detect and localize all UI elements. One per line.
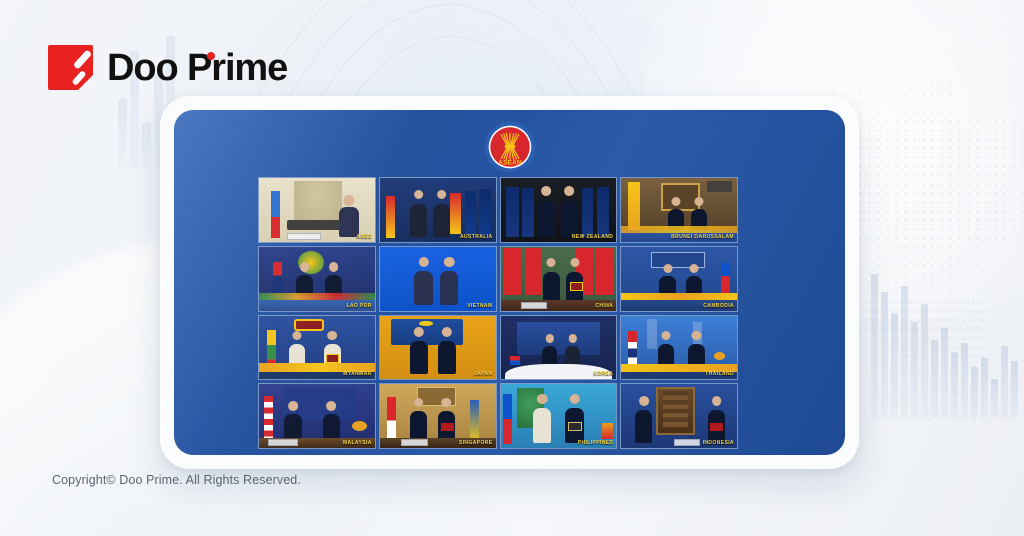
video-tile-label: JAPAN	[474, 371, 493, 377]
video-tile-label: AUSTRALIA	[460, 234, 493, 240]
video-tile[interactable]: MALAYSIA	[258, 383, 376, 449]
video-tile[interactable]: INDONESIA	[620, 383, 738, 449]
video-tile-label: VIETNAM	[467, 303, 492, 309]
video-tile-label: LAO PDR	[346, 303, 371, 309]
video-tile[interactable]: AUSTRALIA	[379, 177, 497, 243]
background-bar-chart-right	[871, 268, 1018, 418]
presentation-card: ASEAN ASEC	[160, 96, 859, 469]
video-tile[interactable]: VIETNAM	[379, 246, 497, 312]
brand-name: Doo Prime	[107, 49, 287, 87]
video-tile[interactable]: PHILIPPINES	[500, 383, 618, 449]
video-tile-label: BRUNEI DARUSSALAM	[671, 234, 734, 240]
video-tile-label: CHINA	[595, 303, 613, 309]
video-tile[interactable]: JAPAN	[379, 315, 497, 381]
asean-emblem-icon: ASEAN	[484, 121, 536, 173]
video-tile[interactable]: CHINA	[500, 246, 618, 312]
video-tile-label: CAMBODIA	[703, 303, 734, 309]
video-tile-label: ASEC	[356, 234, 372, 240]
video-tile-label: THAILAND	[705, 371, 734, 377]
video-tile[interactable]: NEW ZEALAND	[500, 177, 618, 243]
video-tile-label: MYANMAR	[343, 371, 371, 377]
brand-logo: Doo Prime	[48, 45, 287, 90]
video-tile[interactable]: LAO PDR	[258, 246, 376, 312]
video-tile[interactable]: BRUNEI DARUSSALAM	[620, 177, 738, 243]
brand-accent-dot	[207, 52, 215, 60]
video-conference-screen: ASEAN ASEC	[174, 110, 845, 455]
video-tile-label: INDONESIA	[703, 440, 734, 446]
video-tile[interactable]: ASEC	[258, 177, 376, 243]
video-tile-grid: ASEC AUSTRALIA	[258, 177, 738, 449]
video-tile-label: MALAYSIA	[343, 440, 372, 446]
brand-name-text: Doo Prime	[107, 47, 287, 89]
video-tile-label: NEW ZEALAND	[572, 234, 613, 240]
video-tile[interactable]: MYANMAR	[258, 315, 376, 381]
video-tile[interactable]: SINGAPORE	[379, 383, 497, 449]
svg-text:ASEAN: ASEAN	[498, 160, 522, 167]
doo-prime-mark-icon	[48, 45, 93, 90]
video-tile-label: KOREA	[593, 371, 613, 377]
video-tile-label: SINGAPORE	[459, 440, 493, 446]
video-tile[interactable]: THAILAND	[620, 315, 738, 381]
video-tile-label: PHILIPPINES	[578, 440, 614, 446]
video-tile[interactable]: CAMBODIA	[620, 246, 738, 312]
video-tile[interactable]: KOREA	[500, 315, 618, 381]
copyright-text: Copyright© Doo Prime. All Rights Reserve…	[52, 473, 301, 487]
